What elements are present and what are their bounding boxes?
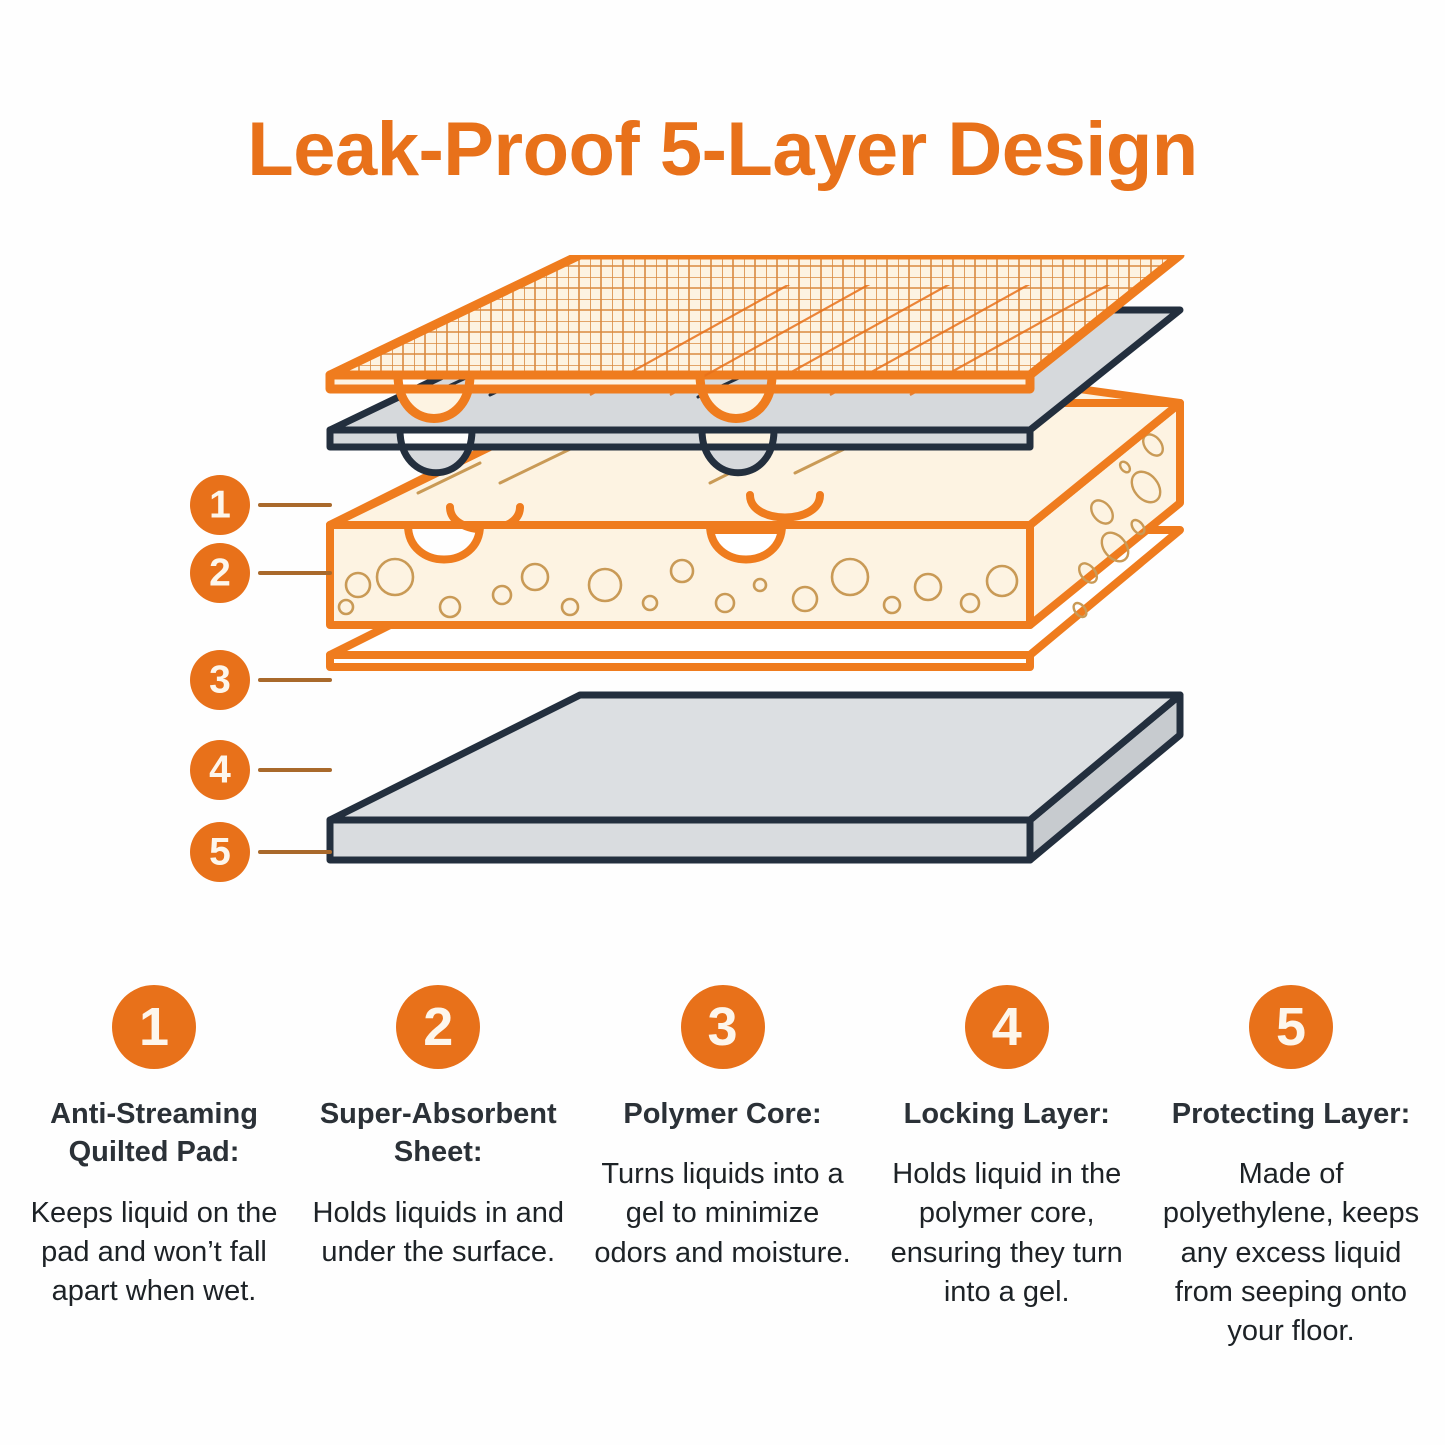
legend-badge-3: 3 xyxy=(681,985,765,1069)
legend-badge-4: 4 xyxy=(965,985,1049,1069)
svg-text:5: 5 xyxy=(209,831,231,874)
infographic-page: Leak-Proof 5-Layer Design xyxy=(0,0,1445,1445)
legend-badge-1: 1 xyxy=(112,985,196,1069)
layer-5-protecting xyxy=(330,695,1180,860)
legend-heading-3: Polymer Core: xyxy=(619,1095,825,1133)
legend-column-4: 4 Locking Layer: Holds liquid in the pol… xyxy=(873,985,1141,1312)
svg-text:1: 1 xyxy=(209,484,231,527)
exploded-layer-diagram: 1 2 3 4 5 xyxy=(150,255,1270,915)
callout-badge-1: 1 xyxy=(190,475,250,535)
svg-text:3: 3 xyxy=(209,659,231,702)
callout-group: 1 2 3 4 5 xyxy=(190,475,330,882)
legend-body-2: Holds liquids in and under the surface. xyxy=(304,1194,572,1272)
svg-text:4: 4 xyxy=(209,749,231,792)
legend-column-2: 2 Super-Absorbent Sheet: Holds liquids i… xyxy=(304,985,572,1272)
legend-body-1: Keeps liquid on the pad and won’t fall a… xyxy=(20,1194,288,1311)
legend-column-3: 3 Polymer Core: Turns liquids into a gel… xyxy=(589,985,857,1273)
legend-body-3: Turns liquids into a gel to minimize odo… xyxy=(589,1155,857,1272)
callout-badge-2: 2 xyxy=(190,543,250,603)
leader-lines xyxy=(260,505,330,852)
legend-body-5: Made of polyethylene, keeps any excess l… xyxy=(1157,1155,1425,1351)
legend-body-4: Holds liquid in the polymer core, ensuri… xyxy=(873,1155,1141,1312)
legend-heading-4: Locking Layer: xyxy=(900,1095,1114,1133)
callout-badge-3: 3 xyxy=(190,650,250,710)
page-title: Leak-Proof 5-Layer Design xyxy=(0,110,1445,190)
legend-column-5: 5 Protecting Layer: Made of polyethylene… xyxy=(1157,985,1425,1351)
callout-badge-5: 5 xyxy=(190,822,250,882)
legend-heading-2: Super-Absorbent Sheet: xyxy=(304,1095,572,1172)
legend-column-1: 1 Anti-Streaming Quilted Pad: Keeps liqu… xyxy=(20,985,288,1311)
legend-row: 1 Anti-Streaming Quilted Pad: Keeps liqu… xyxy=(20,985,1425,1351)
callout-badges: 1 2 3 4 5 xyxy=(190,475,250,882)
callout-badge-4: 4 xyxy=(190,740,250,800)
legend-heading-5: Protecting Layer: xyxy=(1168,1095,1415,1133)
svg-text:2: 2 xyxy=(209,552,231,595)
legend-heading-1: Anti-Streaming Quilted Pad: xyxy=(20,1095,288,1172)
legend-badge-2: 2 xyxy=(396,985,480,1069)
legend-badge-5: 5 xyxy=(1249,985,1333,1069)
